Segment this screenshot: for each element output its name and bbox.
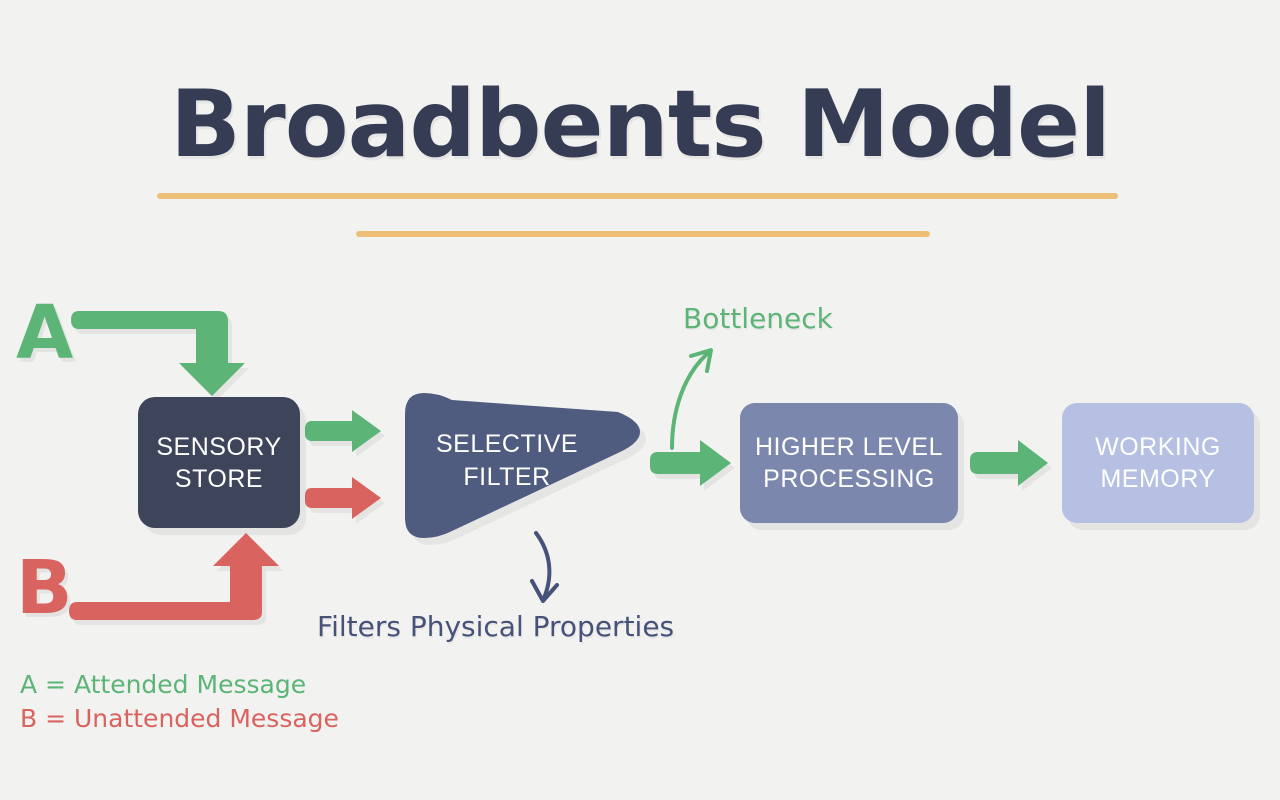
higher-level-line-1: HIGHER LEVEL [755,431,943,464]
title-underline-primary [157,193,1118,199]
node-sensory-store[interactable]: SENSORY STORE [138,397,300,528]
annotation-bottleneck: Bottleneck [683,305,833,333]
higher-level-line-2: PROCESSING [755,463,943,496]
arrow-store-to-filter-unattended [305,477,381,519]
arrow-bottleneck-pointer [672,350,711,448]
input-letter-b: B [16,551,72,625]
working-memory-line-2: MEMORY [1095,463,1221,496]
diagram-canvas: Broadbents Model A B [0,0,1280,800]
node-selective-filter-label: SELECTIVE FILTER [402,428,612,493]
annotation-filters-physical-properties: Filters Physical Properties [317,613,674,641]
input-letter-a: A [16,296,73,370]
legend: A = Attended Message B = Unattended Mess… [20,668,339,736]
legend-item-unattended: B = Unattended Message [20,702,339,736]
selective-filter-line-1: SELECTIVE [436,430,578,458]
arrow-store-to-filter-attended [305,410,381,452]
sensory-store-line-2: STORE [156,463,281,495]
arrow-b-to-sensory-store [69,533,279,620]
title-underline-secondary [356,231,930,237]
arrow-processing-to-memory [970,440,1048,486]
selective-filter-shape[interactable] [405,393,640,538]
selective-filter-line-2: FILTER [463,463,550,491]
arrow-filter-to-processing [650,440,731,486]
sensory-store-line-1: SENSORY [156,431,281,463]
working-memory-line-1: WORKING [1095,431,1221,464]
legend-item-attended: A = Attended Message [20,668,339,702]
arrow-a-to-sensory-store [71,311,245,396]
arrow-filters-properties-pointer [532,533,557,601]
node-working-memory[interactable]: WORKING MEMORY [1062,403,1254,523]
page-title: Broadbents Model [0,78,1280,171]
node-higher-level-processing[interactable]: HIGHER LEVEL PROCESSING [740,403,958,523]
